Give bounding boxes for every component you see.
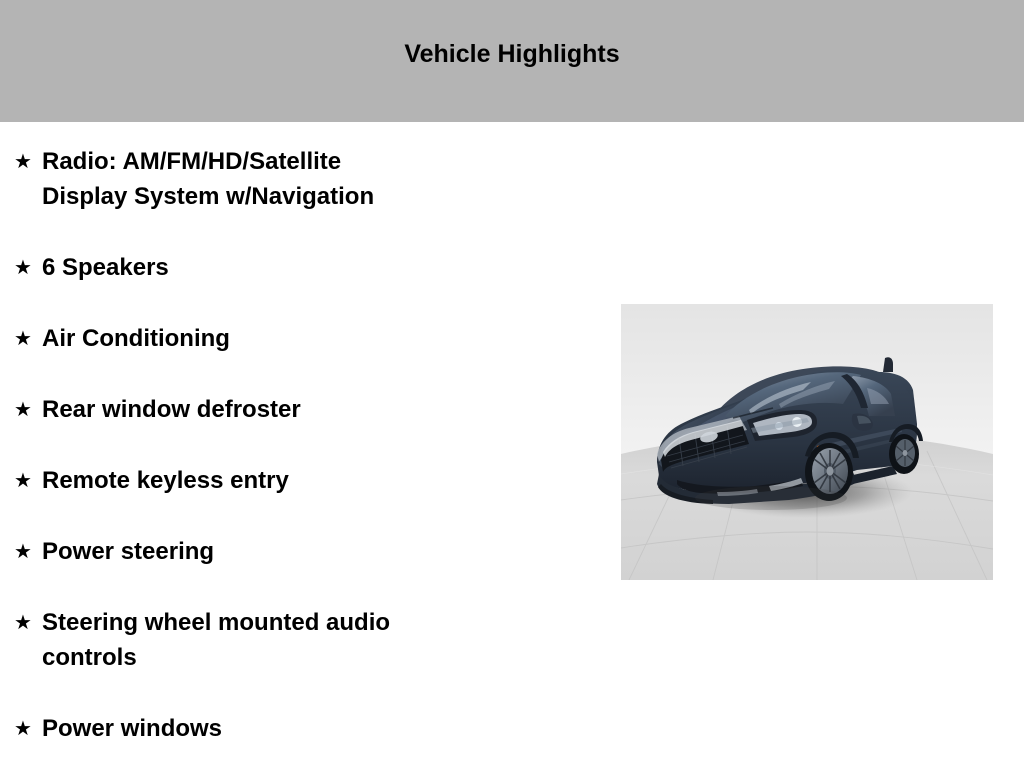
vehicle-highlights-page: Vehicle Highlights ★ Radio: AM/FM/HD/Sat… bbox=[0, 0, 1024, 768]
list-item: ★ Power windows bbox=[0, 711, 600, 746]
list-item: ★ Power steering bbox=[0, 534, 600, 569]
list-item: ★ Steering wheel mounted audio controls bbox=[0, 605, 600, 675]
page-title: Vehicle Highlights bbox=[404, 42, 619, 81]
star-bullet-icon: ★ bbox=[14, 534, 42, 569]
list-item-label: Radio: AM/FM/HD/Satellite Display System… bbox=[42, 144, 600, 214]
list-item: ★ Rear window defroster bbox=[0, 392, 600, 427]
list-item: ★ 6 Speakers bbox=[0, 250, 600, 285]
list-item-label: Air Conditioning bbox=[42, 321, 600, 356]
list-item-label: 6 Speakers bbox=[42, 250, 600, 285]
star-bullet-icon: ★ bbox=[14, 250, 42, 285]
list-item: ★ Air Conditioning bbox=[0, 321, 600, 356]
header-bar: Vehicle Highlights bbox=[0, 0, 1024, 122]
star-bullet-icon: ★ bbox=[14, 605, 42, 640]
star-bullet-icon: ★ bbox=[14, 321, 42, 356]
star-bullet-icon: ★ bbox=[14, 463, 42, 498]
star-bullet-icon: ★ bbox=[14, 144, 42, 179]
list-item: ★ Remote keyless entry bbox=[0, 463, 600, 498]
list-item-label: Remote keyless entry bbox=[42, 463, 600, 498]
list-item: ★ Radio: AM/FM/HD/Satellite Display Syst… bbox=[0, 144, 600, 214]
list-item-label: Steering wheel mounted audio controls bbox=[42, 605, 600, 675]
list-item-label: Rear window defroster bbox=[42, 392, 600, 427]
vehicle-photo-image bbox=[621, 304, 993, 580]
list-item-label: Power steering bbox=[42, 534, 600, 569]
list-item-label: Power windows bbox=[42, 711, 600, 746]
vehicle-highlights-list: ★ Radio: AM/FM/HD/Satellite Display Syst… bbox=[0, 122, 600, 746]
star-bullet-icon: ★ bbox=[14, 711, 42, 746]
star-bullet-icon: ★ bbox=[14, 392, 42, 427]
vehicle-photo bbox=[621, 304, 993, 580]
